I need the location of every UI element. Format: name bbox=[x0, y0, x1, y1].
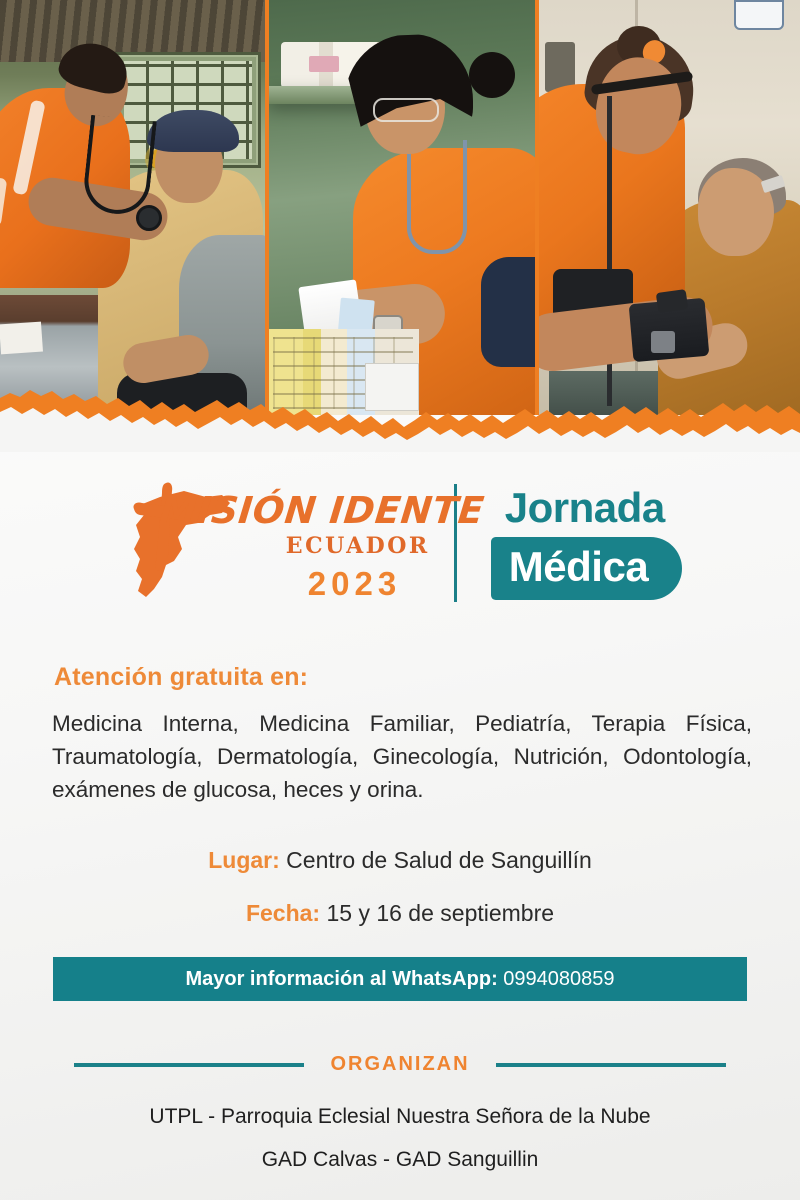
photo-doctor-examining-patient bbox=[0, 0, 269, 415]
whatsapp-banner[interactable]: Mayor información al WhatsApp: 099408085… bbox=[53, 957, 747, 1001]
pharmacist-hair-bun bbox=[469, 52, 515, 98]
whatsapp-number[interactable]: 0994080859 bbox=[503, 968, 614, 991]
pharmacist-sleeve bbox=[481, 257, 539, 367]
free-care-heading: Atención gratuita en: bbox=[54, 663, 308, 692]
medicine-box-carton bbox=[365, 363, 419, 411]
date-label: Fecha: bbox=[246, 900, 320, 926]
stethoscope-icon bbox=[407, 140, 467, 254]
photo-collage bbox=[0, 0, 800, 415]
supply-label bbox=[309, 56, 339, 72]
wristwatch-icon bbox=[655, 289, 687, 313]
brand-country: ECUADOR bbox=[286, 533, 430, 559]
brand-header: MISIÓN IDENTE ECUADOR 2023 Jornada Médic… bbox=[0, 473, 800, 613]
divider-left bbox=[74, 1063, 304, 1067]
place-value: Centro de Salud de Sanguillín bbox=[286, 847, 592, 873]
campaign-title-line-2: Médica bbox=[491, 537, 682, 600]
place-label: Lugar: bbox=[208, 847, 280, 873]
whatsapp-label: Mayor información al WhatsApp bbox=[185, 968, 491, 991]
patient-cap bbox=[147, 110, 239, 152]
whatsapp-separator: : bbox=[491, 968, 498, 991]
photo-pharmacist-dispensing bbox=[269, 0, 538, 415]
divider-right bbox=[496, 1063, 726, 1067]
poster-content: MISIÓN IDENTE ECUADOR 2023 Jornada Médic… bbox=[0, 415, 800, 1200]
date-line: Fecha: 15 y 16 de septiembre bbox=[0, 900, 800, 927]
specialties-text: Medicina Interna, Medicina Familiar, Ped… bbox=[52, 707, 752, 806]
wall-note bbox=[734, 0, 784, 30]
campaign-title: Jornada Médica bbox=[491, 487, 682, 600]
organizers-line-1: UTPL - Parroquia Eclesial Nuestra Señora… bbox=[0, 1105, 800, 1129]
brand-wordmark: MISIÓN IDENTE bbox=[158, 489, 487, 532]
mision-idente-logo: MISIÓN IDENTE ECUADOR 2023 bbox=[118, 475, 438, 611]
blood-pressure-dial bbox=[651, 331, 675, 353]
paper-sheet bbox=[0, 322, 43, 355]
brand-year: 2023 bbox=[308, 565, 401, 603]
stethoscope-chestpiece bbox=[136, 205, 162, 231]
organizers-header: ORGANIZAN bbox=[0, 1053, 800, 1076]
date-value: 15 y 16 de septiembre bbox=[326, 900, 554, 926]
eyeglasses-icon bbox=[373, 98, 439, 122]
organizers-title: ORGANIZAN bbox=[330, 1053, 469, 1076]
poster-root: MISIÓN IDENTE ECUADOR 2023 Jornada Médic… bbox=[0, 0, 800, 1200]
organizers-line-2: GAD Calvas - GAD Sanguillin bbox=[0, 1148, 800, 1172]
photo-nurse-blood-pressure bbox=[539, 0, 800, 415]
place-line: Lugar: Centro de Salud de Sanguillín bbox=[0, 847, 800, 874]
campaign-title-line-1: Jornada bbox=[505, 487, 682, 529]
